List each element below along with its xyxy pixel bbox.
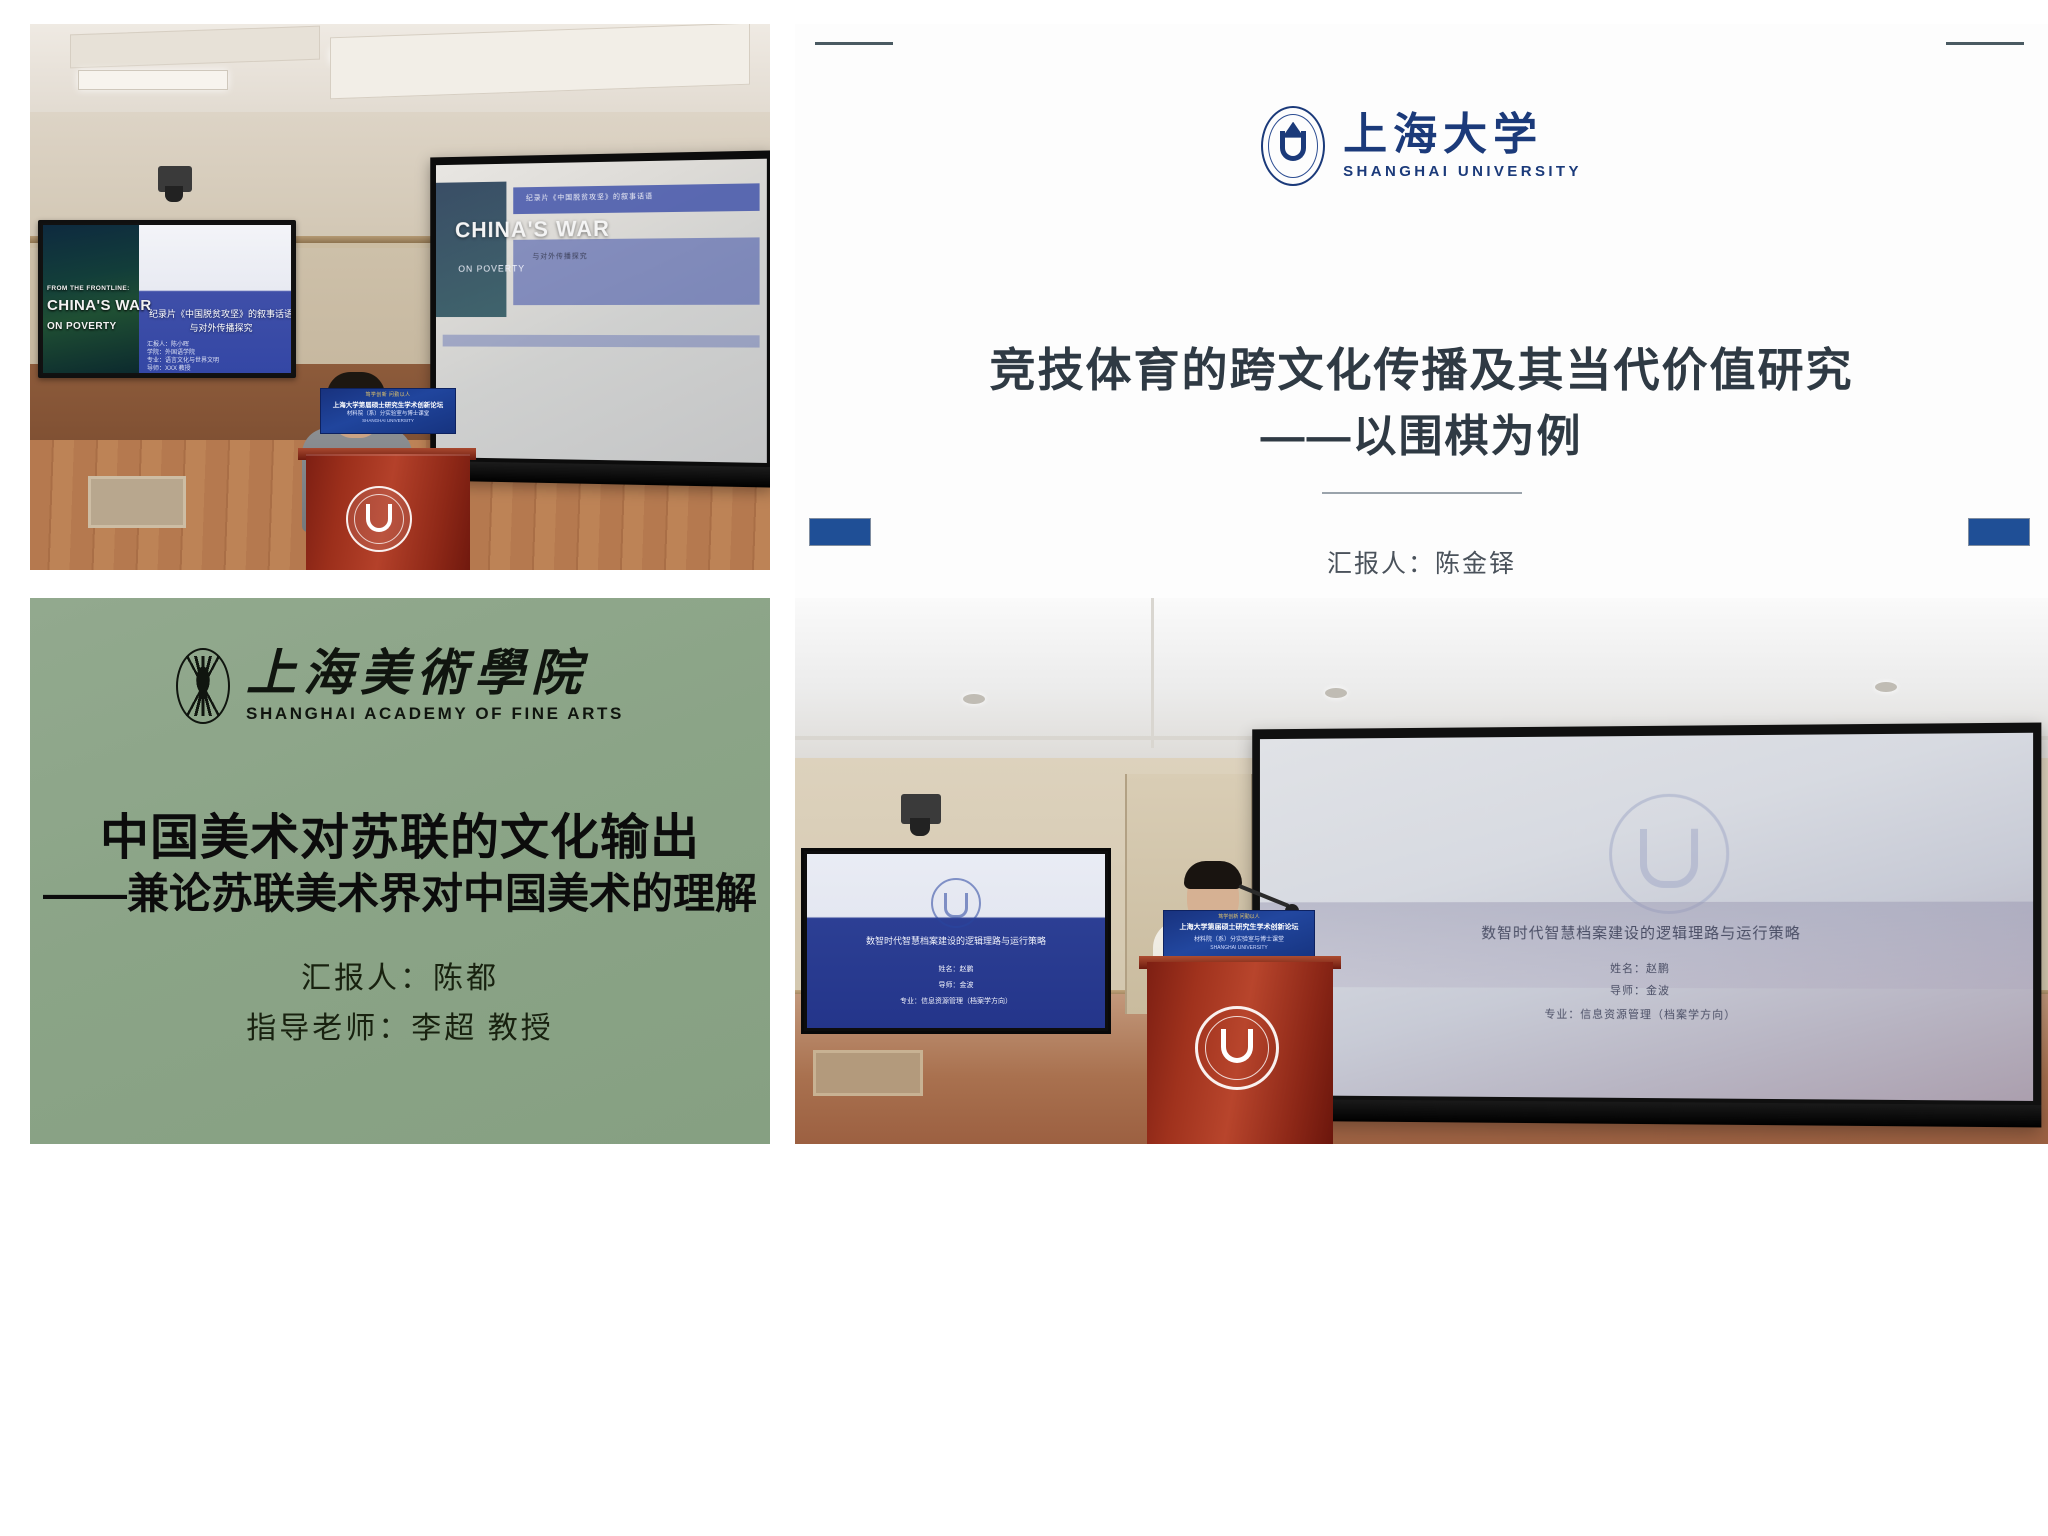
safa-emblem-icon — [176, 648, 230, 724]
slide-presenter: 汇报人：陈都 — [30, 953, 770, 997]
slide-presenter: 汇报人：陈金铎 — [795, 544, 2048, 580]
projection-surface: CHINA'S WAR ON POVERTY 纪录片《中国脱贫攻坚》的叙事话语 … — [436, 159, 767, 463]
su-seal-watermark-icon — [1609, 793, 1729, 914]
screen-slide-title: 纪录片《中国脱贫攻坚》的叙事话语 — [526, 191, 653, 203]
projection-surface: 数智时代智慧档案建设的逻辑理路与运行策略 姓名：赵鹏 导师：金波 专业：信息资源… — [1260, 733, 2033, 1101]
podium-placard: 笃学创新 问勤以人 上海大学第届硕士研究生学术创新论坛 材料院（系）分实验室与博… — [320, 388, 456, 434]
security-camera-icon — [158, 166, 192, 192]
slide-title: 竞技体育的跨文化传播及其当代价值研究 — [795, 334, 2048, 400]
panel-slide-fine-arts[interactable]: 上海美術學院 SHANGHAI ACADEMY OF FINE ARTS 中国美… — [30, 598, 770, 1144]
su-u-glyph — [1280, 131, 1306, 161]
decor-box-bottom-left — [809, 518, 871, 546]
decor-box-bottom-right — [1968, 518, 2030, 546]
slide-title: 中国美术对苏联的文化输出 — [30, 798, 770, 869]
tv-slide-meta-3: 专业：语言文化与世界文明 — [147, 357, 219, 365]
screen-band — [513, 238, 760, 305]
tv-slide-title-1: 纪录片《中国脱贫攻坚》的叙事话语 — [141, 307, 291, 320]
poster-line-2: CHINA'S WAR — [47, 297, 152, 314]
safa-logo-text: 上海美術學院 SHANGHAI ACADEMY OF FINE ARTS — [246, 648, 624, 724]
screen-slide-meta-1: 姓名：赵鹏 — [1260, 959, 2033, 976]
ceiling-spotlight — [1325, 688, 1347, 698]
tv-screen: FROM THE FRONTLINE: CHINA'S WAR ON POVER… — [43, 225, 291, 373]
speaker-hair — [1184, 861, 1242, 889]
tv-slide-title: 数智时代智慧档案建设的逻辑理路与运行策略 — [807, 934, 1105, 947]
tv-slide-meta-3: 专业：信息资源管理（档案学方向） — [807, 996, 1105, 1006]
ceiling-spotlight — [1875, 682, 1897, 692]
tv-slide-meta-2: 导师：金波 — [807, 980, 1105, 990]
shanghai-university-seal-icon — [346, 486, 412, 552]
panel-photo-speaker-1[interactable]: FROM THE FRONTLINE: CHINA'S WAR ON POVER… — [30, 24, 770, 570]
safa-emblem-glyph — [185, 656, 221, 716]
screen-slide-subtitle: 与对外传播探究 — [532, 251, 587, 261]
su-seal-watermark-icon — [931, 878, 981, 928]
placard-line-1: 笃学创新 问勤以人 — [1164, 913, 1314, 920]
placard-line-4: SHANGHAI UNIVERSITY — [321, 418, 455, 423]
screen-band — [442, 335, 760, 348]
screen-slide-meta-3: 专业：信息资源管理（档案学方向） — [1260, 1005, 2033, 1024]
slide-subtitle: ——以围棋为例 — [795, 400, 2048, 464]
wall-vent — [88, 476, 186, 528]
slide-advisor: 指导老师：李超 教授 — [30, 1003, 770, 1047]
su-logo-text: 上海大学 SHANGHAI UNIVERSITY — [1343, 112, 1582, 179]
projection-screen: 数智时代智慧档案建设的逻辑理路与运行策略 姓名：赵鹏 导师：金波 专业：信息资源… — [1252, 723, 2041, 1128]
tv-screen: 数智时代智慧档案建设的逻辑理路与运行策略 姓名：赵鹏 导师：金波 专业：信息资源… — [807, 854, 1105, 1028]
ceiling-spotlight — [963, 694, 985, 704]
wall-television: FROM THE FRONTLINE: CHINA'S WAR ON POVER… — [38, 220, 296, 378]
poster-line-3: ON POVERTY — [47, 321, 117, 332]
panel-photo-speaker-2[interactable]: 数智时代智慧档案建设的逻辑理路与运行策略 姓名：赵鹏 导师：金波 专业：信息资源… — [795, 598, 2048, 1144]
su-logo-en: SHANGHAI UNIVERSITY — [1343, 163, 1582, 180]
podium-placard: 笃学创新 问勤以人 上海大学第届硕士研究生学术创新论坛 材料院（系）分实验室与博… — [1163, 910, 1315, 962]
screen-headline: CHINA'S WAR — [455, 215, 610, 243]
placard-line-2: 上海大学第届硕士研究生学术创新论坛 — [321, 399, 455, 409]
seal-u-glyph — [366, 504, 392, 532]
seal-u-glyph — [1221, 1029, 1253, 1063]
tv-slide-meta-1: 姓名：赵鹏 — [807, 964, 1105, 974]
placard-line-4: SHANGHAI UNIVERSITY — [1164, 945, 1314, 951]
tv-slide-meta-1: 汇报人：陈小晖 — [147, 341, 189, 349]
tv-slide-meta-2: 学院：外国语学院 — [147, 349, 195, 357]
safa-logo-cn: 上海美術學院 — [246, 648, 588, 698]
photo-collage: FROM THE FRONTLINE: CHINA'S WAR ON POVER… — [0, 0, 2048, 1536]
projection-screen: CHINA'S WAR ON POVERTY 纪录片《中国脱贫攻坚》的叙事话语 … — [430, 150, 770, 487]
decor-rule-top-right — [1946, 42, 2024, 45]
screen-slide-meta-2: 导师：金波 — [1260, 981, 2033, 999]
placard-line-3: 材料院（系）分实验室与博士课堂 — [1164, 934, 1314, 943]
shanghai-academy-fine-arts-logo: 上海美術學院 SHANGHAI ACADEMY OF FINE ARTS — [30, 648, 770, 724]
decor-rule-top-left — [815, 42, 893, 45]
screen-poster-block — [436, 181, 506, 317]
screen-slide-title: 数智时代智慧档案建设的逻辑理路与运行策略 — [1260, 922, 2033, 943]
security-camera-icon — [901, 794, 941, 824]
placard-line-3: 材料院（系）分实验室与博士课堂 — [321, 409, 455, 417]
screen-subhead: ON POVERTY — [458, 264, 525, 274]
slide-divider — [1322, 492, 1522, 494]
poster-line-1: FROM THE FRONTLINE: — [47, 285, 130, 292]
ceiling-light — [78, 70, 228, 90]
placard-line-2: 上海大学第届硕士研究生学术创新论坛 — [1164, 922, 1314, 932]
su-emblem-icon — [1261, 106, 1325, 186]
wall-vent — [813, 1050, 923, 1096]
placard-line-1: 笃学创新 问勤以人 — [321, 391, 455, 398]
tv-slide-meta-4: 导师：XXX 教授 — [147, 365, 191, 373]
ceiling-seam — [1151, 598, 1154, 748]
shanghai-university-logo: 上海大学 SHANGHAI UNIVERSITY — [795, 106, 2048, 186]
su-logo-cn: 上海大学 — [1343, 112, 1543, 158]
slide-subtitle: ——兼论苏联美术界对中国美术的理解 — [30, 860, 770, 921]
shanghai-university-seal-icon — [1195, 1006, 1279, 1090]
wall-television: 数智时代智慧档案建设的逻辑理路与运行策略 姓名：赵鹏 导师：金波 专业：信息资源… — [801, 848, 1111, 1034]
tv-slide-title-2: 与对外传播探究 — [141, 321, 291, 334]
safa-logo-en: SHANGHAI ACADEMY OF FINE ARTS — [246, 704, 624, 724]
